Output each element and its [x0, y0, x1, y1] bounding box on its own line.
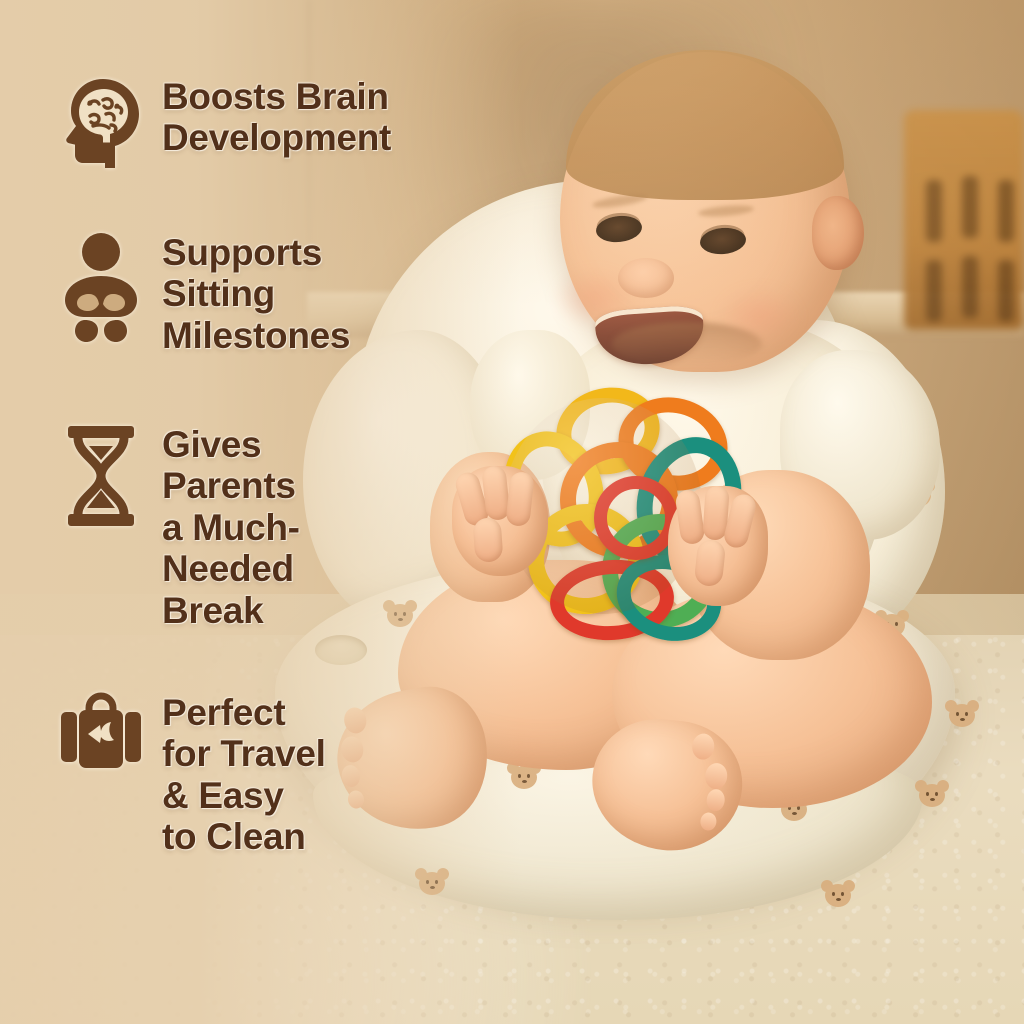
head-brain-icon: [58, 76, 144, 168]
bear-print: [821, 880, 855, 908]
onesie-collar-shadow: [612, 322, 762, 366]
sitting-baby-icon: [58, 232, 144, 344]
feature-item-boosts-brain-development: Boosts Brain Development: [58, 76, 391, 168]
hourglass-icon: [58, 424, 144, 528]
feature-item-perfect-for-travel: Perfect for Travel & Easy to Clean: [58, 692, 326, 858]
suitcase-icon: [58, 692, 144, 772]
feature-item-gives-parents-a-break: Gives Parents a Much- Needed Break: [58, 424, 300, 631]
baby-nose: [618, 258, 674, 298]
bear-print: [945, 700, 979, 728]
feature-label: Perfect for Travel & Easy to Clean: [162, 692, 326, 858]
baby-ear: [812, 196, 864, 270]
feature-list: Boosts Brain Development Supports Sittin…: [0, 0, 470, 1024]
feature-label: Supports Sitting Milestones: [162, 232, 350, 356]
bear-print: [915, 780, 949, 808]
feature-label: Boosts Brain Development: [162, 76, 391, 159]
infographic-canvas: Boosts Brain Development Supports Sittin…: [0, 0, 1024, 1024]
feature-label: Gives Parents a Much- Needed Break: [162, 424, 300, 631]
baby-right-hand: [668, 486, 768, 606]
feature-item-supports-sitting-milestones: Supports Sitting Milestones: [58, 232, 350, 356]
baby-left-hand: [452, 466, 548, 576]
